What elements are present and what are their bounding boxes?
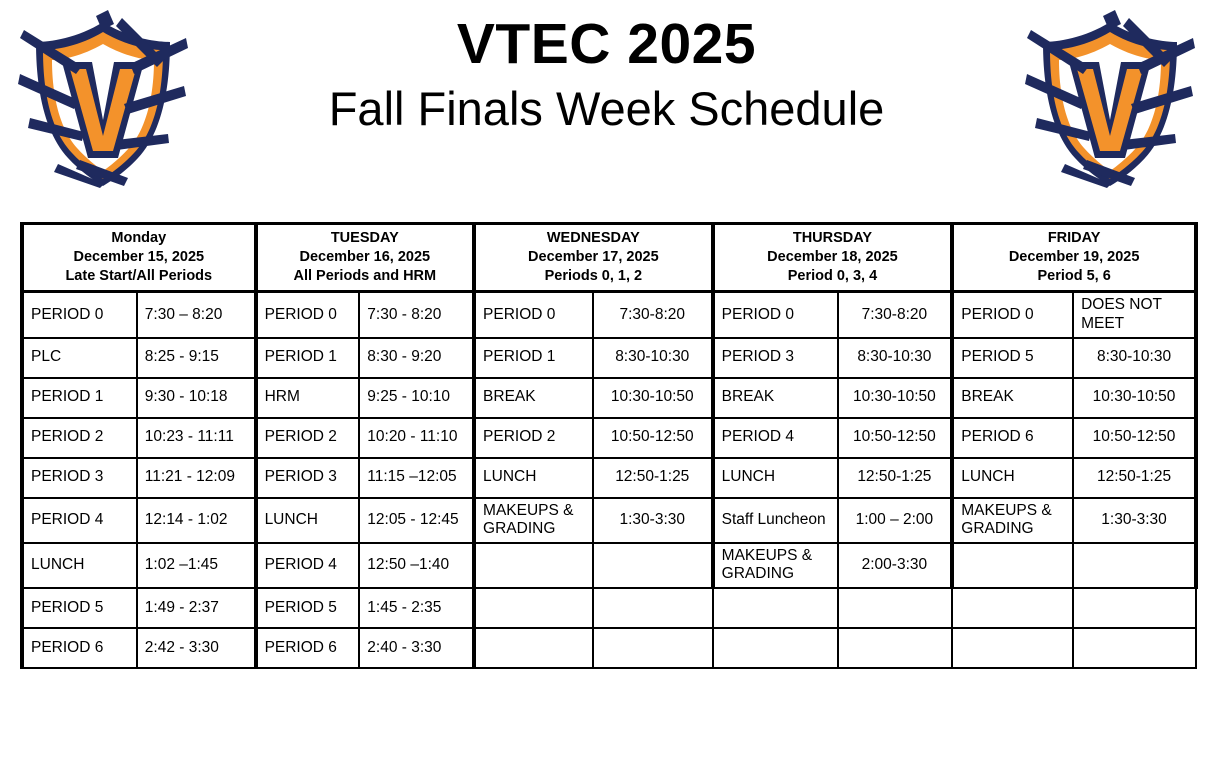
day-date: December 19, 2025 — [958, 248, 1190, 267]
cell-wednesday-label: BREAK — [474, 378, 593, 418]
cell-wednesday-blank-time — [593, 588, 713, 628]
cell-monday-time: 11:21 - 12:09 — [137, 458, 256, 498]
cell-thursday-time: 10:50-12:50 — [838, 418, 953, 458]
table-row: PERIOD 3 11:21 - 12:09 PERIOD 3 11:15 –1… — [22, 458, 1196, 498]
cell-friday-label: BREAK — [952, 378, 1073, 418]
schedule-table-wrapper: Monday December 15, 2025 Late Start/All … — [20, 222, 1198, 669]
cell-tuesday-time: 1:45 - 2:35 — [359, 588, 474, 628]
cell-tuesday-time: 11:15 –12:05 — [359, 458, 474, 498]
cell-friday-label — [952, 543, 1073, 588]
cell-wednesday-blank — [474, 628, 593, 668]
cell-thursday-time: 12:50-1:25 — [838, 458, 953, 498]
cell-wednesday-label: LUNCH — [474, 458, 593, 498]
cell-thursday-blank — [713, 628, 838, 668]
cell-friday-time: 10:30-10:50 — [1073, 378, 1196, 418]
cell-friday-time: 1:30-3:30 — [1073, 498, 1196, 543]
cell-friday-time: 10:50-12:50 — [1073, 418, 1196, 458]
cell-tuesday-time: 10:20 - 11:10 — [359, 418, 474, 458]
cell-monday-time: 2:42 - 3:30 — [137, 628, 256, 668]
cell-wednesday-label — [474, 543, 593, 588]
cell-thursday-blank-time — [838, 588, 953, 628]
cell-friday-blank-time — [1073, 588, 1196, 628]
day-note: Periods 0, 1, 2 — [480, 267, 707, 286]
cell-thursday-time: 10:30-10:50 — [838, 378, 953, 418]
cell-wednesday-label: PERIOD 2 — [474, 418, 593, 458]
table-row: PERIOD 1 9:30 - 10:18 HRM 9:25 - 10:10 B… — [22, 378, 1196, 418]
cell-monday-time: 1:49 - 2:37 — [137, 588, 256, 628]
cell-wednesday-label: MAKEUPS & GRADING — [474, 498, 593, 543]
day-name: WEDNESDAY — [480, 229, 707, 248]
cell-thursday-time: 2:00-3:30 — [838, 543, 953, 588]
cell-monday-time: 9:30 - 10:18 — [137, 378, 256, 418]
cell-wednesday-label: PERIOD 1 — [474, 338, 593, 378]
cell-tuesday-time: 12:05 - 12:45 — [359, 498, 474, 543]
cell-friday-time: 8:30-10:30 — [1073, 338, 1196, 378]
title-block: VTEC 2025 Fall Finals Week Schedule — [188, 0, 1025, 136]
day-date: December 15, 2025 — [28, 248, 250, 267]
cell-thursday-label: MAKEUPS & GRADING — [713, 543, 838, 588]
vtec-shield-logo-left — [18, 8, 188, 188]
cell-tuesday-label: PERIOD 6 — [256, 628, 360, 668]
table-row: PLC 8:25 - 9:15 PERIOD 1 8:30 - 9:20 PER… — [22, 338, 1196, 378]
finals-schedule-page: VTEC 2025 Fall Finals Week Schedule — [0, 0, 1209, 763]
cell-monday-time: 1:02 –1:45 — [137, 543, 256, 588]
day-header-friday: FRIDAY December 19, 2025 Period 5, 6 — [952, 224, 1196, 292]
table-row: PERIOD 2 10:23 - 11:11 PERIOD 2 10:20 - … — [22, 418, 1196, 458]
cell-wednesday-time: 12:50-1:25 — [593, 458, 713, 498]
cell-friday-blank-time — [1073, 628, 1196, 668]
cell-wednesday-time — [593, 543, 713, 588]
cell-friday-label: PERIOD 0 — [952, 292, 1073, 338]
cell-monday-time: 7:30 – 8:20 — [137, 292, 256, 338]
cell-tuesday-label: HRM — [256, 378, 360, 418]
cell-thursday-blank — [713, 588, 838, 628]
cell-monday-label: LUNCH — [22, 543, 137, 588]
cell-wednesday-blank — [474, 588, 593, 628]
cell-thursday-label: BREAK — [713, 378, 838, 418]
vtec-shield-logo-right — [1025, 8, 1195, 188]
day-name: FRIDAY — [958, 229, 1190, 248]
cell-tuesday-label: PERIOD 3 — [256, 458, 360, 498]
day-note: Late Start/All Periods — [28, 267, 250, 286]
page-title: VTEC 2025 — [188, 14, 1025, 76]
cell-thursday-blank-time — [838, 628, 953, 668]
cell-thursday-time: 8:30-10:30 — [838, 338, 953, 378]
table-header-row: Monday December 15, 2025 Late Start/All … — [22, 224, 1196, 292]
cell-monday-label: PERIOD 3 — [22, 458, 137, 498]
cell-wednesday-time: 10:50-12:50 — [593, 418, 713, 458]
day-header-monday: Monday December 15, 2025 Late Start/All … — [22, 224, 256, 292]
cell-friday-blank — [952, 588, 1073, 628]
cell-thursday-label: PERIOD 4 — [713, 418, 838, 458]
day-date: December 16, 2025 — [262, 248, 468, 267]
table-row: PERIOD 6 2:42 - 3:30 PERIOD 6 2:40 - 3:3… — [22, 628, 1196, 668]
day-name: Monday — [28, 229, 250, 248]
cell-thursday-label: PERIOD 3 — [713, 338, 838, 378]
table-row: PERIOD 5 1:49 - 2:37 PERIOD 5 1:45 - 2:3… — [22, 588, 1196, 628]
cell-tuesday-time: 7:30 - 8:20 — [359, 292, 474, 338]
finals-schedule-table: Monday December 15, 2025 Late Start/All … — [20, 222, 1198, 669]
cell-wednesday-blank-time — [593, 628, 713, 668]
day-note: All Periods and HRM — [262, 267, 468, 286]
cell-tuesday-label: LUNCH — [256, 498, 360, 543]
cell-wednesday-time: 7:30-8:20 — [593, 292, 713, 338]
cell-tuesday-label: PERIOD 0 — [256, 292, 360, 338]
day-name: TUESDAY — [262, 229, 468, 248]
cell-friday-label: PERIOD 5 — [952, 338, 1073, 378]
cell-tuesday-label: PERIOD 5 — [256, 588, 360, 628]
day-header-wednesday: WEDNESDAY December 17, 2025 Periods 0, 1… — [474, 224, 713, 292]
day-date: December 17, 2025 — [480, 248, 707, 267]
page-header: VTEC 2025 Fall Finals Week Schedule — [0, 0, 1209, 205]
cell-thursday-time: 1:00 – 2:00 — [838, 498, 953, 543]
day-header-tuesday: TUESDAY December 16, 2025 All Periods an… — [256, 224, 474, 292]
cell-monday-label: PERIOD 1 — [22, 378, 137, 418]
cell-monday-label: PERIOD 6 — [22, 628, 137, 668]
cell-wednesday-label: PERIOD 0 — [474, 292, 593, 338]
cell-thursday-time: 7:30-8:20 — [838, 292, 953, 338]
cell-friday-time: 12:50-1:25 — [1073, 458, 1196, 498]
cell-tuesday-time: 9:25 - 10:10 — [359, 378, 474, 418]
cell-tuesday-time: 8:30 - 9:20 — [359, 338, 474, 378]
table-row: PERIOD 0 7:30 – 8:20 PERIOD 0 7:30 - 8:2… — [22, 292, 1196, 338]
day-date: December 18, 2025 — [719, 248, 947, 267]
cell-monday-label: PLC — [22, 338, 137, 378]
cell-friday-label: LUNCH — [952, 458, 1073, 498]
cell-monday-time: 12:14 - 1:02 — [137, 498, 256, 543]
cell-thursday-label: Staff Luncheon — [713, 498, 838, 543]
cell-tuesday-time: 12:50 –1:40 — [359, 543, 474, 588]
cell-monday-label: PERIOD 5 — [22, 588, 137, 628]
cell-thursday-label: LUNCH — [713, 458, 838, 498]
day-name: THURSDAY — [719, 229, 947, 248]
cell-wednesday-time: 1:30-3:30 — [593, 498, 713, 543]
cell-friday-blank — [952, 628, 1073, 668]
cell-friday-time — [1073, 543, 1196, 588]
table-body: PERIOD 0 7:30 – 8:20 PERIOD 0 7:30 - 8:2… — [22, 292, 1196, 668]
cell-monday-time: 8:25 - 9:15 — [137, 338, 256, 378]
day-header-thursday: THURSDAY December 18, 2025 Period 0, 3, … — [713, 224, 953, 292]
day-note: Period 0, 3, 4 — [719, 267, 947, 286]
cell-tuesday-label: PERIOD 1 — [256, 338, 360, 378]
table-row: LUNCH 1:02 –1:45 PERIOD 4 12:50 –1:40 MA… — [22, 543, 1196, 588]
cell-thursday-label: PERIOD 0 — [713, 292, 838, 338]
cell-friday-label: PERIOD 6 — [952, 418, 1073, 458]
page-subtitle: Fall Finals Week Schedule — [188, 82, 1025, 136]
table-row: PERIOD 4 12:14 - 1:02 LUNCH 12:05 - 12:4… — [22, 498, 1196, 543]
cell-friday-time: DOES NOT MEET — [1073, 292, 1196, 338]
cell-monday-label: PERIOD 4 — [22, 498, 137, 543]
cell-monday-label: PERIOD 0 — [22, 292, 137, 338]
cell-tuesday-label: PERIOD 4 — [256, 543, 360, 588]
cell-wednesday-time: 10:30-10:50 — [593, 378, 713, 418]
cell-friday-label: MAKEUPS & GRADING — [952, 498, 1073, 543]
cell-monday-time: 10:23 - 11:11 — [137, 418, 256, 458]
cell-tuesday-time: 2:40 - 3:30 — [359, 628, 474, 668]
cell-wednesday-time: 8:30-10:30 — [593, 338, 713, 378]
cell-tuesday-label: PERIOD 2 — [256, 418, 360, 458]
day-note: Period 5, 6 — [958, 267, 1190, 286]
cell-monday-label: PERIOD 2 — [22, 418, 137, 458]
